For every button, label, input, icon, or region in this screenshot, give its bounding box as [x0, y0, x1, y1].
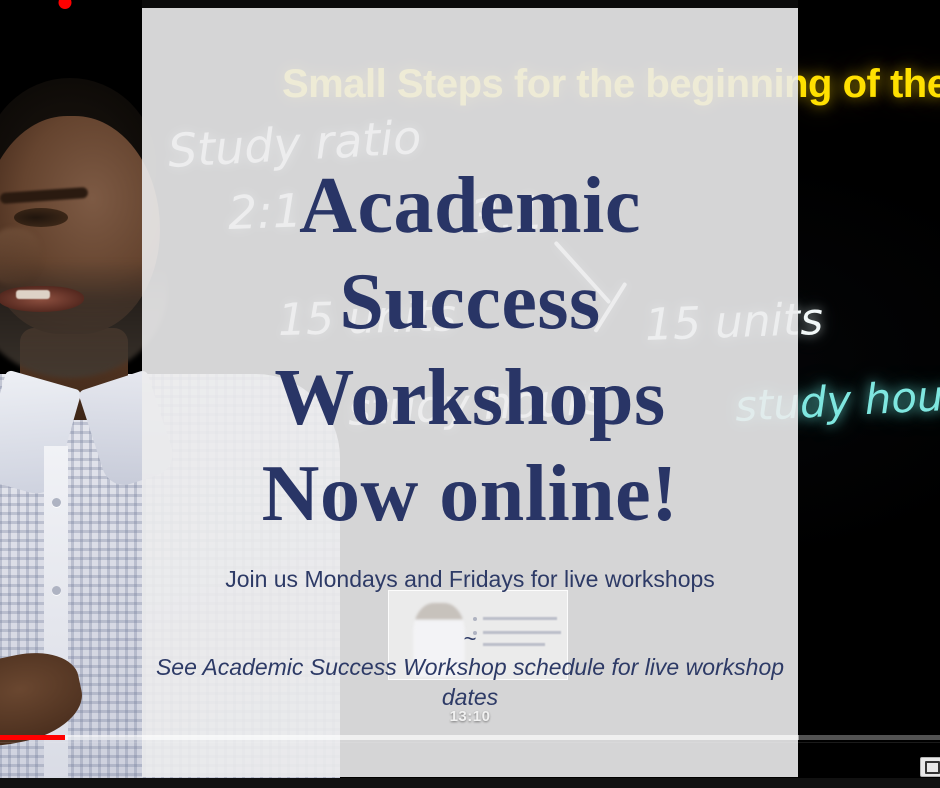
slide-overlay-panel: Academic Success Workshops Now online! J… — [142, 8, 798, 777]
video-stage[interactable]: Small Steps for the beginning of the Stu… — [0, 0, 940, 788]
player-bottom-band — [0, 778, 940, 788]
subtitles-icon[interactable] — [920, 757, 940, 777]
thumbnail-text-line — [483, 617, 557, 620]
overlay-top-band — [142, 0, 798, 8]
progress-played — [0, 735, 65, 740]
video-duration-label: 13:10 — [0, 708, 940, 725]
thumbnail-bullet-dot — [473, 617, 477, 621]
slide-subtitle: Join us Mondays and Fridays for live wor… — [142, 564, 798, 594]
progress-buffered — [0, 735, 799, 740]
slide-title-line-3: Workshops — [142, 350, 798, 446]
slide-title-line-1: Academic — [142, 158, 798, 254]
subtitles-glyph — [925, 761, 940, 774]
progress-bar[interactable] — [0, 735, 940, 740]
slide-title: Academic Success Workshops Now online! — [142, 158, 798, 542]
presenter-shirt-button — [52, 586, 61, 595]
slide-separator: ~ — [142, 626, 798, 652]
presenter-shirt-button — [52, 498, 61, 507]
slide-title-line-4: Now online! — [142, 446, 798, 542]
slide-title-line-2: Success — [142, 254, 798, 350]
slide-subtitle-italic: See Academic Success Workshop schedule f… — [142, 652, 798, 712]
presenter-eye — [14, 208, 68, 227]
presenter-teeth — [16, 290, 50, 299]
control-bar-hairline — [0, 742, 940, 743]
video-player[interactable]: Small Steps for the beginning of the Stu… — [0, 0, 940, 788]
